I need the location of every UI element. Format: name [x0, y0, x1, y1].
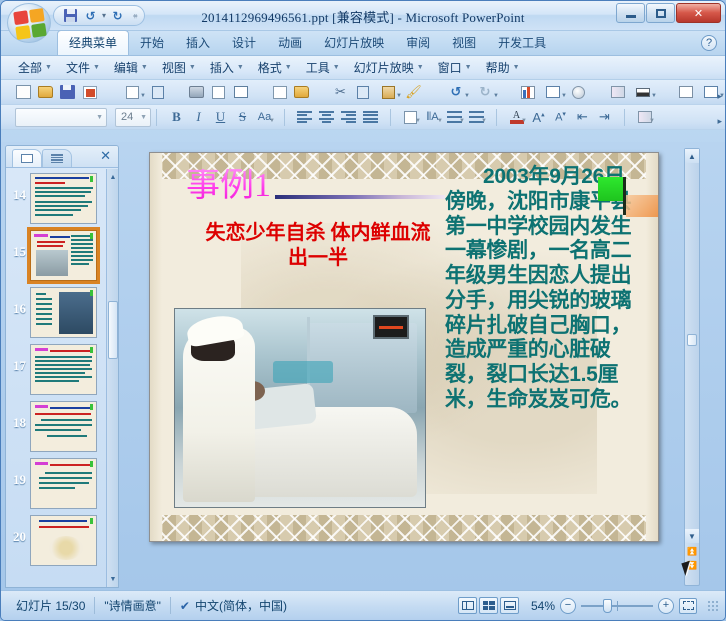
save-icon[interactable]: [62, 7, 79, 24]
view-buttons: [458, 597, 519, 614]
slide-thumb-icon: [21, 154, 33, 163]
ribbon-tab-review[interactable]: 审阅: [395, 31, 441, 55]
font-size-value: 24: [121, 111, 133, 123]
ribbon-tab-slideshow[interactable]: 幻灯片放映: [313, 31, 395, 55]
justify-icon[interactable]: [360, 107, 381, 127]
menu-window[interactable]: 窗口▼: [431, 57, 479, 78]
powerpoint-window: 2014112969496561.ppt [兼容模式] - Microsoft …: [0, 0, 726, 621]
slide-subtitle[interactable]: 失恋少年自杀 体内鲜血流出一半: [198, 221, 438, 271]
chevron-down-icon: ▼: [649, 118, 655, 124]
align-left-icon[interactable]: [294, 107, 315, 127]
workspace: ✕ 14: [1, 142, 725, 590]
view-slideshow-button[interactable]: [500, 597, 519, 614]
language-label: 中文(简体，中国): [195, 597, 287, 614]
undo-group: ↺▼ ↻▼: [438, 82, 503, 102]
standard-toolbar: ▼ ✂ ▼ 🖌 ↺▼ ↻▼ ▼: [1, 80, 725, 105]
slide-title[interactable]: 事例1: [186, 169, 271, 203]
italic-button[interactable]: I: [188, 107, 209, 127]
previous-slide-icon[interactable]: ⏫: [686, 545, 698, 557]
maximize-button[interactable]: [646, 3, 675, 23]
slide-thumbnail[interactable]: [30, 458, 97, 509]
list-item[interactable]: 17: [8, 344, 118, 395]
menu-tools-label: 工具: [306, 59, 330, 76]
close-button[interactable]: ✕: [676, 3, 721, 23]
new-document-icon[interactable]: [13, 82, 34, 102]
save-as-ppt-icon[interactable]: [79, 82, 100, 102]
help-icon[interactable]: ?: [701, 35, 717, 51]
menu-help[interactable]: 帮助▼: [479, 57, 527, 78]
font-color-letter: A: [513, 111, 520, 120]
scrollbar-thumb[interactable]: [687, 334, 697, 346]
increase-indent-icon[interactable]: ⇥: [594, 107, 615, 127]
resize-grip[interactable]: [707, 600, 719, 612]
ribbon-tab-classic-menu[interactable]: 经典菜单: [57, 30, 129, 55]
email-attach-icon[interactable]: [147, 82, 168, 102]
scroll-down-icon[interactable]: ▼: [107, 573, 119, 585]
cut-icon[interactable]: ✂: [330, 82, 351, 102]
status-bar: 幻灯片 15/30 "诗情画意" ✔ 中文(简体，中国) 54% − +: [1, 590, 725, 620]
insert-chart-icon[interactable]: [517, 82, 538, 102]
chevron-down-icon: ▼: [269, 118, 275, 124]
classic-menu-bar: 全部▼ 文件▼ 编辑▼ 视图▼ 插入▼ 格式▼ 工具▼ 幻灯片放映▼ 窗口▼ 帮…: [1, 56, 725, 80]
ribbon-tab-animation[interactable]: 动画: [267, 31, 313, 55]
slide-thumbnail[interactable]: [30, 173, 97, 224]
chevron-down-icon: ▼: [493, 93, 499, 99]
menu-insert[interactable]: 插入▼: [203, 57, 251, 78]
menu-file[interactable]: 文件▼: [59, 57, 107, 78]
zoom-slider-knob[interactable]: [603, 599, 612, 613]
underline-button[interactable]: U: [210, 107, 231, 127]
slide-thumbnail[interactable]: [30, 401, 97, 452]
decrease-font-size-icon[interactable]: A▾: [550, 107, 571, 127]
scrollbar-thumb[interactable]: [108, 301, 118, 359]
list-item[interactable]: 18: [8, 401, 118, 452]
view-normal-button[interactable]: [458, 597, 477, 614]
font-color-icon[interactable]: A▼: [506, 107, 527, 127]
chevron-down-icon: ▼: [459, 118, 465, 124]
font-name-combo[interactable]: ▼: [15, 108, 107, 127]
menu-all[interactable]: 全部▼: [11, 57, 59, 78]
slide-thumbnail[interactable]: [30, 287, 97, 338]
green-flag-decoration: [598, 177, 625, 201]
slide-number: 15: [11, 230, 26, 260]
paste-icon[interactable]: ▼: [374, 82, 402, 102]
table-icon[interactable]: [230, 82, 251, 102]
toolbar-separator: [284, 109, 285, 126]
undo-icon[interactable]: ↺▼: [442, 82, 470, 102]
tab-outline[interactable]: [42, 149, 72, 167]
ribbon-tab-view[interactable]: 视图: [441, 31, 487, 55]
chevron-down-icon: ▼: [93, 64, 100, 71]
slide-number: 14: [11, 173, 26, 203]
menu-view-label: 视图: [162, 59, 186, 76]
office-logo-icon: [13, 8, 47, 40]
text-shadow-button[interactable]: S: [232, 107, 253, 127]
menu-file-label: 文件: [66, 59, 90, 76]
open-folder-icon[interactable]: [35, 82, 56, 102]
slide-vertical-scrollbar[interactable]: ▲ ⏫ ⏬ ▼: [684, 148, 700, 586]
formatting-toolbar: ▼ 24 ▼ B I U S Aa▼ ▼ ⦀A▼ ▼ ▼ A: [1, 105, 725, 130]
slide-design-icon[interactable]: [607, 82, 628, 102]
new-slide-icon[interactable]: [675, 82, 696, 102]
decrease-indent-icon[interactable]: ⇤: [572, 107, 593, 127]
chevron-down-icon: ▼: [396, 93, 402, 99]
tab-slides[interactable]: [12, 149, 42, 167]
slides-pane-scrollbar[interactable]: ▲ ▼: [106, 169, 118, 587]
ribbon-tab-bar: 经典菜单 开始 插入 设计 动画 幻灯片放映 审阅 视图 开发工具 ?: [1, 31, 725, 56]
minimize-button[interactable]: [616, 3, 645, 23]
office-orb-button[interactable]: [7, 3, 51, 43]
line-spacing-icon[interactable]: ▼: [400, 107, 421, 127]
menu-window-label: 窗口: [438, 59, 462, 76]
ribbon-tab-developer[interactable]: 开发工具: [487, 31, 557, 55]
green-marker: [90, 233, 93, 239]
zoom-control: 54% − +: [519, 598, 703, 614]
photo-teal-equipment: [273, 361, 333, 383]
window-controls: ✕: [616, 3, 721, 23]
print-group: [182, 82, 255, 102]
align-right-icon[interactable]: [338, 107, 359, 127]
chevron-down-icon: ▼: [96, 114, 103, 121]
chevron-down-icon: ▼: [437, 118, 443, 124]
bold-button[interactable]: B: [166, 107, 187, 127]
theme-name[interactable]: "诗情画意": [95, 596, 170, 615]
menu-slideshow-label: 幻灯片放映: [354, 59, 414, 76]
increase-font-size-icon[interactable]: A▴: [528, 107, 549, 127]
green-marker: [90, 176, 93, 182]
zoom-in-button[interactable]: +: [658, 598, 674, 614]
chevron-down-icon: ▼: [140, 93, 146, 99]
undo-dropdown-icon[interactable]: ▾: [102, 11, 106, 20]
outline-icon: [51, 154, 63, 163]
ribbon-tab-home[interactable]: 开始: [129, 31, 175, 55]
current-slide[interactable]: 事例1 失恋少年自杀 体内鲜血流出一半 2003年9月26日傍晚，沈阳市康平县第…: [149, 152, 659, 542]
slide-thumbnail[interactable]: [30, 515, 97, 566]
toolbar-separator: [496, 109, 497, 126]
insert-table-icon[interactable]: ▼: [539, 82, 567, 102]
print-icon[interactable]: [186, 82, 207, 102]
menu-edit-label: 编辑: [114, 59, 138, 76]
zoom-slider[interactable]: [581, 598, 653, 614]
menu-format-label: 格式: [258, 59, 282, 76]
slide-number: 18: [11, 401, 26, 431]
align-center-icon[interactable]: [316, 107, 337, 127]
language-status[interactable]: ✔ 中文(简体，中国): [171, 596, 296, 615]
research-icon[interactable]: [291, 82, 312, 102]
photo-monitor: [373, 315, 409, 339]
chevron-down-icon: ▼: [417, 64, 424, 71]
numbering-icon[interactable]: ▼: [444, 107, 465, 127]
ribbon-tab-design[interactable]: 设计: [221, 31, 267, 55]
green-marker: [90, 290, 93, 296]
redo-icon[interactable]: ↻: [109, 7, 126, 24]
copy-icon[interactable]: [352, 82, 373, 102]
slide-number: 16: [11, 287, 26, 317]
scroll-down-icon[interactable]: ▼: [685, 529, 699, 543]
menu-format[interactable]: 格式▼: [251, 57, 299, 78]
orange-gradient-decoration: [626, 195, 658, 217]
change-case-button[interactable]: Aa▼: [254, 107, 275, 127]
green-marker: [90, 518, 93, 524]
chevron-down-icon: ▼: [521, 118, 527, 124]
font-style-group: B I U S Aa▼: [162, 107, 279, 127]
zoom-out-button[interactable]: −: [560, 598, 576, 614]
toolbar-overflow-icon[interactable]: ▸: [717, 91, 722, 102]
chevron-down-icon: ▼: [141, 64, 148, 71]
menu-slideshow[interactable]: 幻灯片放映▼: [347, 57, 431, 78]
green-marker: [90, 347, 93, 353]
chevron-down-icon: ▼: [333, 64, 340, 71]
slide-counter[interactable]: 幻灯片 15/30: [7, 596, 94, 615]
toolbar-separator: [156, 109, 157, 126]
menu-view[interactable]: 视图▼: [155, 57, 203, 78]
slides-pane: ✕ 14: [5, 145, 119, 588]
green-marker: [90, 404, 93, 410]
slide-group: ▼: [603, 82, 661, 102]
list-item[interactable]: 19: [8, 458, 118, 509]
slide-number: 20: [11, 515, 26, 545]
zoom-slider-tick: [617, 601, 618, 611]
print-preview-icon[interactable]: [208, 82, 229, 102]
file-group: [9, 82, 104, 102]
font-color-group: A▼ A▴ A▾ ⇤ ⇥: [502, 107, 619, 127]
bullets-icon[interactable]: ▼: [466, 107, 487, 127]
slide-decorative-border-left: [150, 153, 162, 541]
chevron-down-icon: ▼: [513, 64, 520, 71]
chevron-down-icon: ▼: [464, 93, 470, 99]
chevron-down-icon: ▼: [651, 93, 657, 99]
save-icon[interactable]: [57, 82, 78, 102]
slide-thumbnail-list[interactable]: 14 15: [6, 169, 118, 587]
chevron-down-icon: ▼: [465, 64, 472, 71]
chevron-down-icon: ▼: [140, 114, 147, 121]
redo-icon[interactable]: ↻▼: [471, 82, 499, 102]
ribbon-tab-insert[interactable]: 插入: [175, 31, 221, 55]
proof-group: [265, 82, 316, 102]
fit-slide-to-window-button[interactable]: [679, 598, 697, 614]
chevron-down-icon: ▼: [285, 64, 292, 71]
slide-photo[interactable]: [174, 308, 426, 508]
scroll-up-icon[interactable]: ▲: [107, 171, 119, 183]
menu-insert-label: 插入: [210, 59, 234, 76]
spellcheck-icon: ✔: [180, 599, 190, 613]
quick-access-toolbar: ↺ ▾ ↻ ⩷: [53, 5, 145, 26]
chevron-down-icon: ▼: [189, 64, 196, 71]
green-marker: [90, 461, 93, 467]
slide-number: 19: [11, 458, 26, 488]
chevron-down-icon: ▼: [481, 118, 487, 124]
text-direction-icon[interactable]: ⦀A▼: [422, 107, 443, 127]
slide-design-button[interactable]: ▼: [634, 107, 655, 127]
menu-help-label: 帮助: [486, 59, 510, 76]
share-group: ▼: [114, 82, 172, 102]
permission-icon[interactable]: ▼: [118, 82, 146, 102]
slide-decorative-border-bottom: [150, 515, 658, 541]
slide-number: 17: [11, 344, 26, 374]
insert-hyperlink-icon[interactable]: [568, 82, 589, 102]
fill-color-icon[interactable]: ▼: [629, 82, 657, 102]
menu-tools[interactable]: 工具▼: [299, 57, 347, 78]
chevron-down-icon: ▼: [45, 64, 52, 71]
list-item[interactable]: 16: [8, 287, 118, 338]
alignment-group: [290, 107, 385, 127]
list-item[interactable]: 20: [8, 515, 118, 566]
slide-stage: 事例1 失恋少年自杀 体内鲜血流出一半 2003年9月26日傍晚，沈阳市康平县第…: [123, 145, 703, 588]
format-painter-icon[interactable]: 🖌: [403, 82, 424, 102]
chevron-down-icon: ▼: [561, 93, 567, 99]
slide-body-text[interactable]: 2003年9月26日傍晚，沈阳市康平县第一中学校园内发生一幕惨剧，一名高二年级男…: [445, 165, 641, 413]
formatting-overflow-icon[interactable]: ▸: [717, 116, 722, 127]
scroll-up-icon[interactable]: ▲: [685, 149, 699, 163]
slides-pane-tabs: ✕: [6, 146, 118, 168]
menu-all-label: 全部: [18, 59, 42, 76]
close-pane-icon[interactable]: ✕: [100, 148, 111, 164]
slide-thumbnail[interactable]: [30, 344, 97, 395]
list-item[interactable]: 15: [8, 230, 118, 281]
chevron-down-icon: ▼: [415, 118, 421, 124]
list-item[interactable]: 14: [8, 173, 118, 224]
customize-qat-icon[interactable]: ⩷: [133, 11, 138, 21]
view-slide-sorter-button[interactable]: [479, 597, 498, 614]
undo-icon[interactable]: ↺: [82, 7, 99, 24]
design-group: ▼: [630, 107, 659, 127]
insert-group: ▼: [513, 82, 593, 102]
clipboard-group: ✂ ▼ 🖌: [326, 82, 428, 102]
paragraph-group: ▼ ⦀A▼ ▼ ▼: [396, 107, 491, 127]
font-size-combo[interactable]: 24 ▼: [115, 108, 151, 127]
title-underline-rule: [275, 195, 445, 199]
slide-thumbnail-selected[interactable]: [30, 230, 97, 281]
toolbar-separator: [624, 109, 625, 126]
chevron-down-icon: ▼: [237, 64, 244, 71]
zoom-percent[interactable]: 54%: [525, 599, 555, 613]
toolbar-separator: [390, 109, 391, 126]
spelling-check-icon[interactable]: [269, 82, 290, 102]
menu-edit[interactable]: 编辑▼: [107, 57, 155, 78]
